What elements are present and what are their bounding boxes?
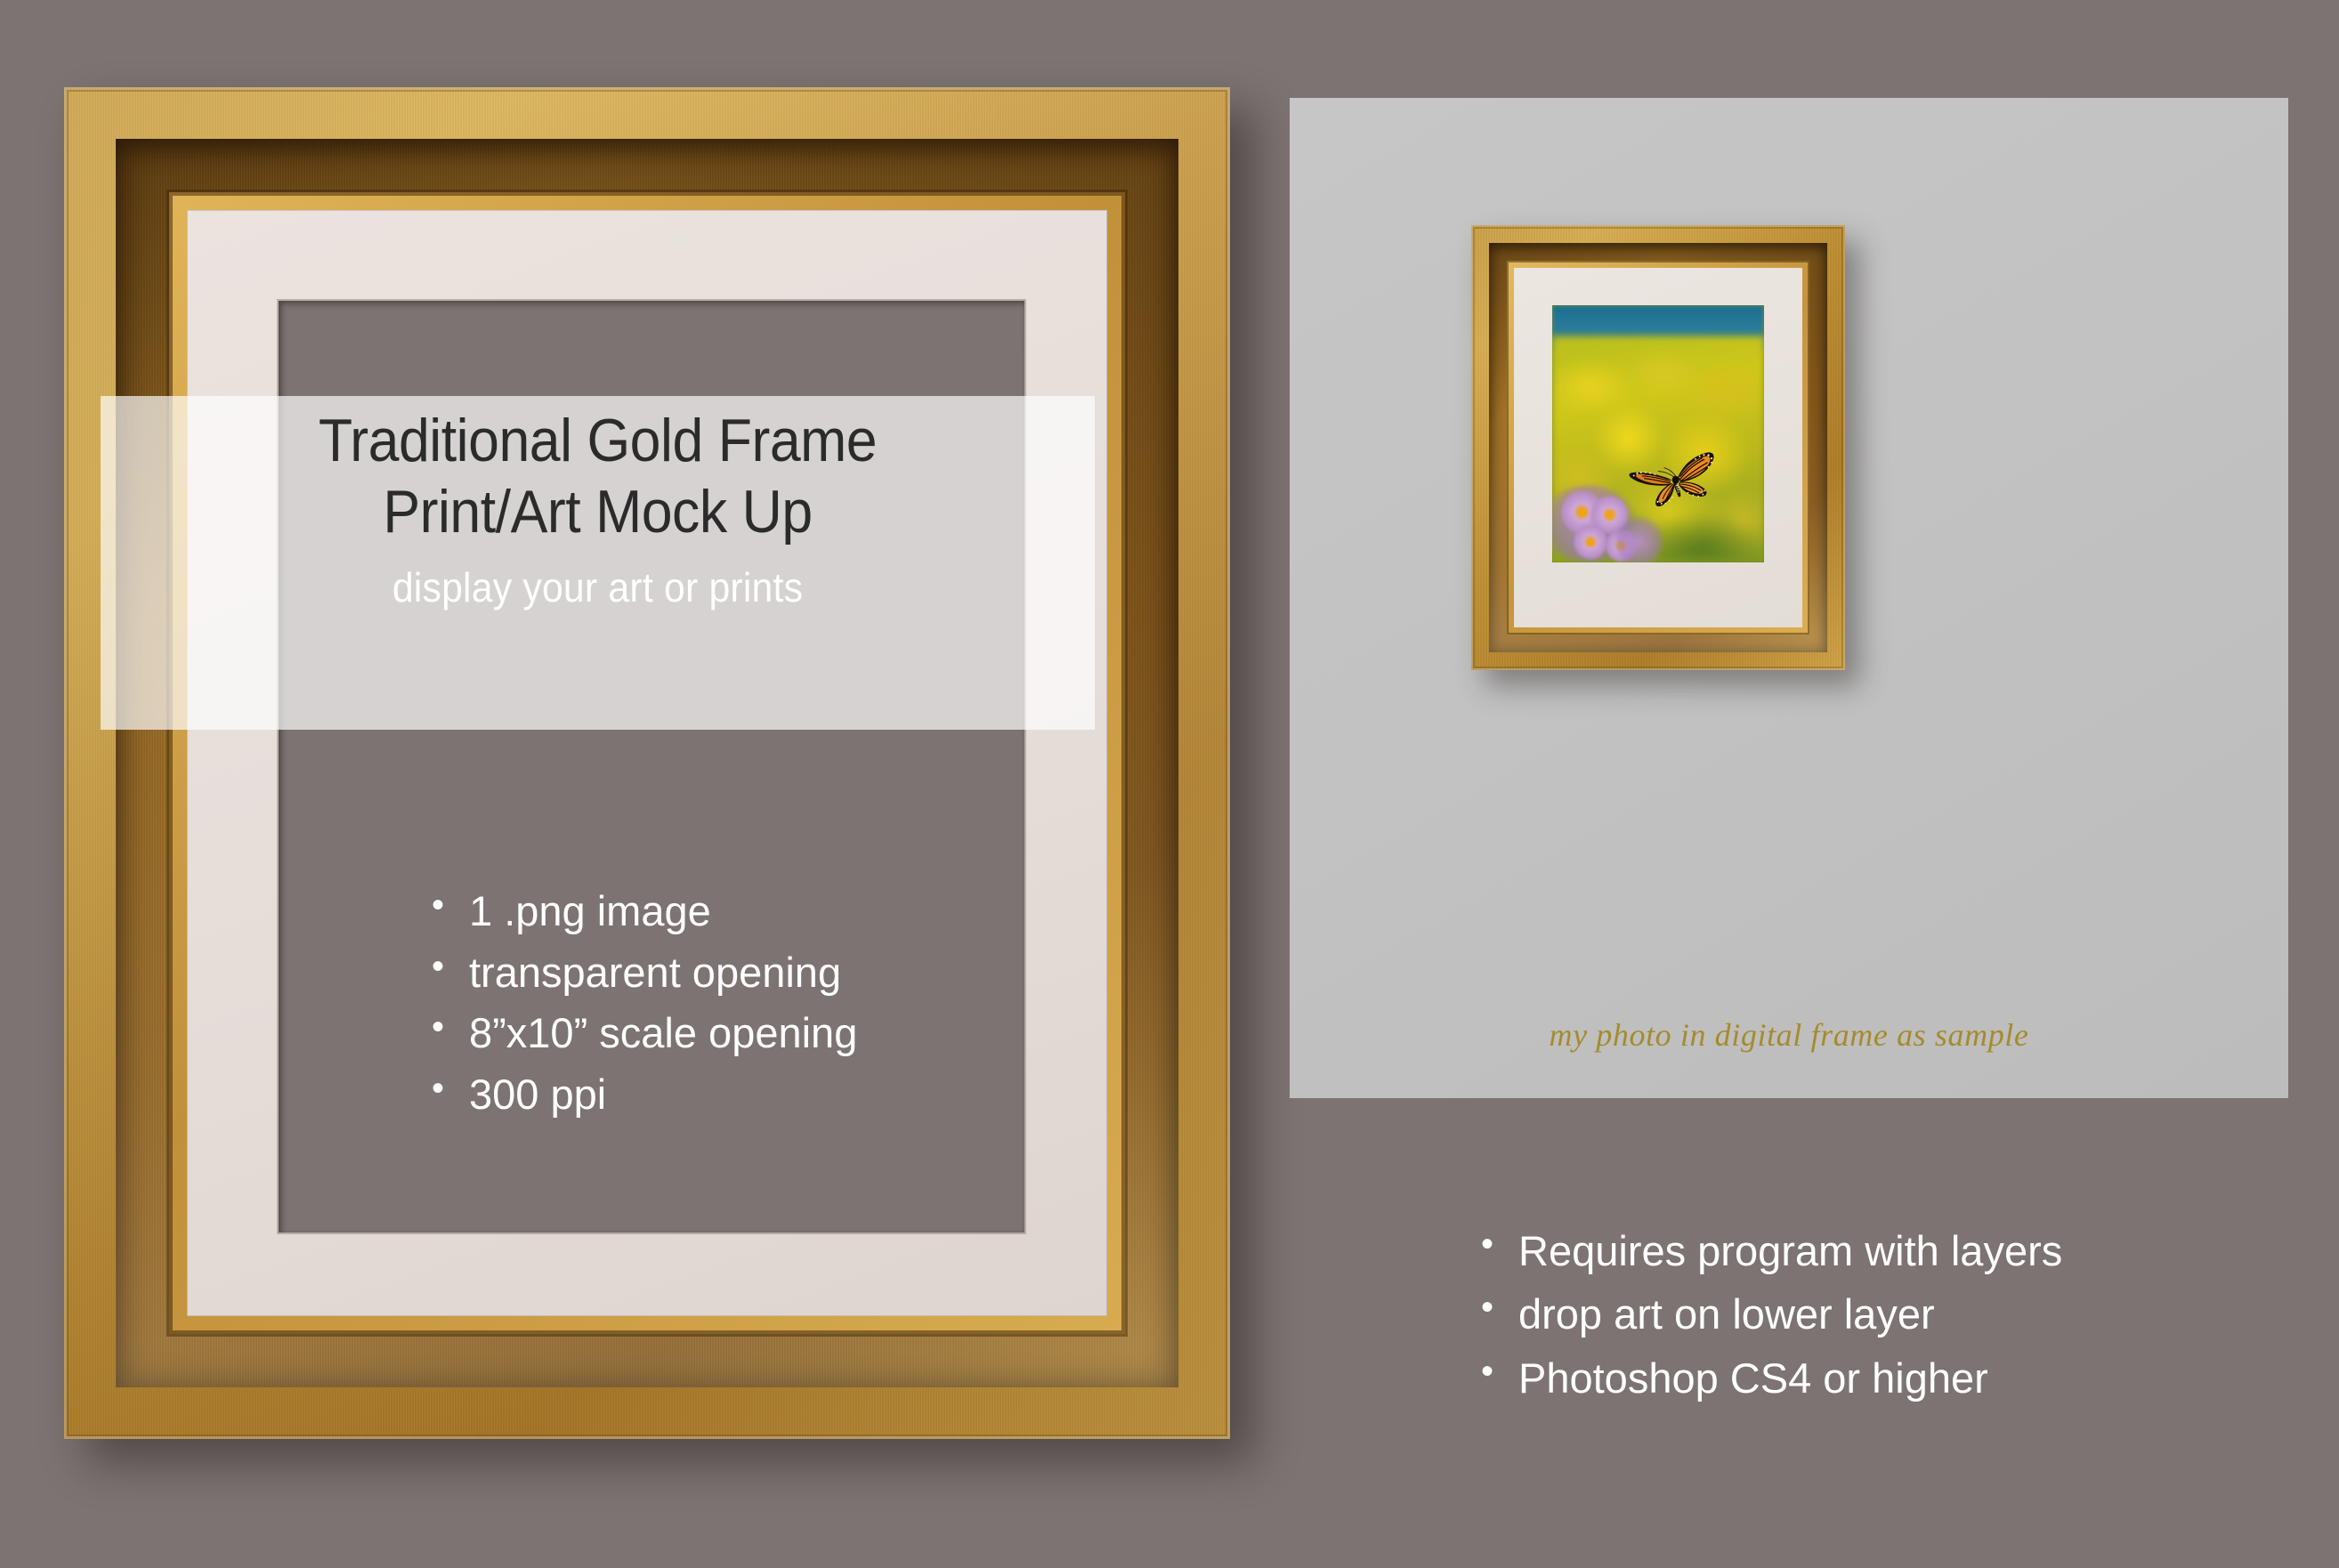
monarch-butterfly xyxy=(1625,449,1729,515)
requirements-list: Requires program with layers drop art on… xyxy=(1481,1219,2062,1410)
page-subtitle: display your art or prints xyxy=(135,563,1060,611)
page-title-line-2: Print/Art Mock Up xyxy=(141,476,1056,547)
sample-gold-frame xyxy=(1471,225,1845,670)
list-item: 8”x10” scale opening xyxy=(432,1003,857,1064)
title-block: Traditional Gold Frame Print/Art Mock Up… xyxy=(101,405,1095,611)
large-gold-frame xyxy=(64,87,1230,1439)
page-title-line-1: Traditional Gold Frame xyxy=(141,405,1056,476)
list-item: drop art on lower layer xyxy=(1481,1282,2062,1346)
aster-flower xyxy=(1574,524,1607,560)
sample-photo-butterfly xyxy=(1552,305,1764,562)
sample-caption: my photo in digital frame as sample xyxy=(1290,1016,2288,1054)
list-item: Photoshop CS4 or higher xyxy=(1481,1346,2062,1410)
feature-list: 1 .png image transparent opening 8”x10” … xyxy=(432,881,857,1125)
list-item: Requires program with layers xyxy=(1481,1219,2062,1282)
list-item: 300 ppi xyxy=(432,1064,857,1126)
list-item: transparent opening xyxy=(432,942,857,1004)
aster-cluster-blob xyxy=(1615,516,1662,562)
list-item: 1 .png image xyxy=(432,881,857,942)
